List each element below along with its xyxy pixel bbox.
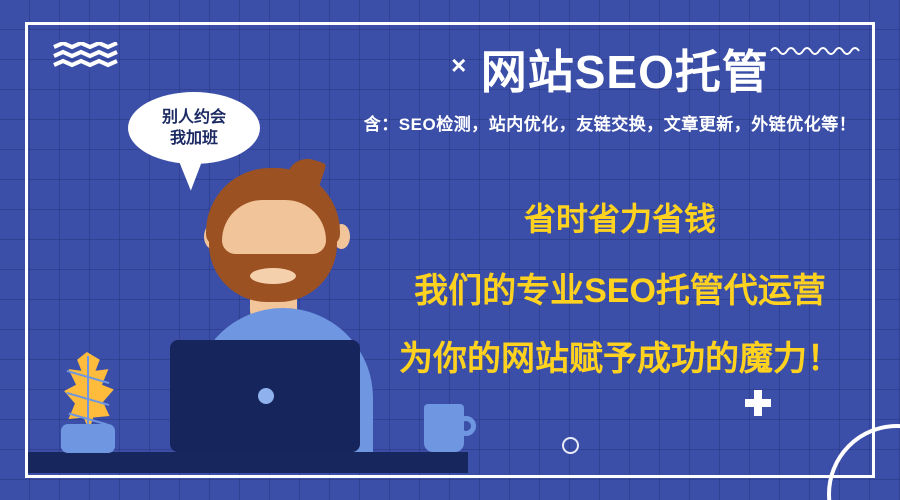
mouth xyxy=(250,268,296,284)
laptop-logo-dot xyxy=(258,388,274,404)
plant-pot xyxy=(61,424,115,453)
speech-bubble-line-1: 别人约会 xyxy=(162,107,226,128)
speech-bubble: 别人约会 我加班 xyxy=(128,92,260,164)
seo-promo-banner: × 网站SEO托管 含：SEO检测，站内优化，友链交换，文章更新，外链优化等！ … xyxy=(0,0,900,500)
speech-bubble-line-2: 我加班 xyxy=(170,128,218,149)
page-title: 网站SEO托管 xyxy=(481,44,769,100)
character-illustration xyxy=(0,0,520,500)
plus-icon xyxy=(745,390,771,416)
forehead xyxy=(222,200,326,254)
coffee-mug-icon xyxy=(424,404,464,452)
small-circle-icon xyxy=(562,437,579,454)
desk xyxy=(28,452,468,473)
